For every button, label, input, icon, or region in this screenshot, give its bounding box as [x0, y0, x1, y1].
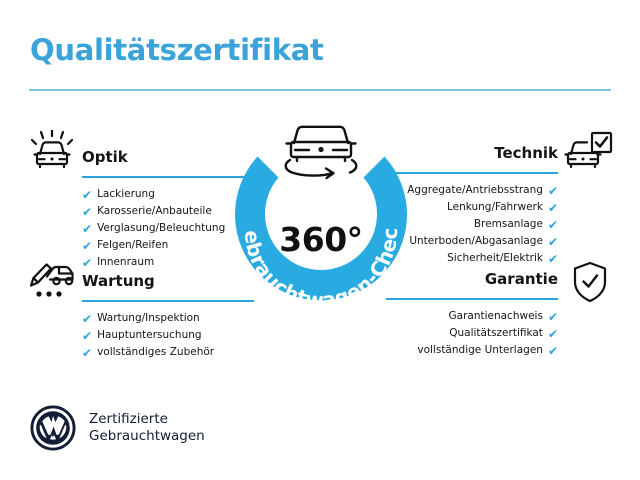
list-item: ✔vollständiges Zubehör — [82, 344, 254, 361]
check-icon: ✔ — [548, 236, 558, 248]
pen-car-service-icon — [26, 258, 78, 302]
list-item-label: vollständige Unterlagen — [417, 342, 543, 359]
list-item-label: Garantienachweis — [449, 308, 543, 325]
list-item-label: Lenkung/Fahrwerk — [447, 199, 543, 216]
car-checkbox-icon — [562, 130, 614, 174]
check-icon: ✔ — [548, 311, 558, 323]
check-icon: ✔ — [548, 219, 558, 231]
list-item-label: Aggregate/Antriebsstrang — [407, 182, 543, 199]
check-icon: ✔ — [82, 313, 92, 325]
list-item-label: Innenraum — [97, 254, 154, 271]
check-icon: ✔ — [82, 240, 92, 252]
list-item-label: Hauptuntersuchung — [97, 327, 202, 344]
check-icon: ✔ — [82, 189, 92, 201]
badge-degrees-label: 360° — [226, 220, 416, 259]
check-icon: ✔ — [82, 257, 92, 269]
page-title: Qualitätszertifikat — [30, 33, 324, 67]
shield-check-icon — [570, 260, 610, 304]
list-item: vollständige Unterlagen✔ — [386, 342, 558, 359]
check-icon: ✔ — [548, 253, 558, 265]
list-item-label: Karosserie/Anbauteile — [97, 203, 212, 220]
vw-logo-icon — [30, 405, 76, 451]
footer-brand: Zertifizierte Gebrauchtwagen — [30, 405, 205, 451]
list-item-label: Bremsanlage — [474, 216, 543, 233]
list-item-label: Lackierung — [97, 186, 155, 203]
360-check-badge: Gebrauchtwagen-Check 360° — [226, 113, 416, 313]
check-icon: ✔ — [548, 202, 558, 214]
certificate-page: Qualitätszertifikat Optik ✔Lackierung — [0, 0, 640, 480]
check-icon: ✔ — [82, 223, 92, 235]
car-rotate-360-icon — [286, 127, 357, 178]
list-item: ✔Hauptuntersuchung — [82, 327, 254, 344]
check-icon: ✔ — [548, 185, 558, 197]
check-icon: ✔ — [82, 206, 92, 218]
section-wartung-list: ✔Wartung/Inspektion ✔Hauptuntersuchung ✔… — [82, 310, 254, 361]
section-garantie-list: Garantienachweis✔ Qualitätszertifikat✔ v… — [386, 308, 558, 359]
list-item-label: vollständiges Zubehör — [97, 344, 214, 361]
list-item-label: Felgen/Reifen — [97, 237, 168, 254]
list-item-label: Verglasung/Beleuchtung — [97, 220, 225, 237]
list-item-label: Unterboden/Abgasanlage — [409, 233, 543, 250]
list-item-label: Qualitätszertifikat — [449, 325, 543, 342]
footer-text: Zertifizierte Gebrauchtwagen — [89, 411, 205, 445]
check-icon: ✔ — [548, 328, 558, 340]
list-item: Qualitätszertifikat✔ — [386, 325, 558, 342]
check-icon: ✔ — [82, 330, 92, 342]
header-divider — [29, 89, 611, 91]
car-shine-icon — [26, 130, 78, 174]
check-icon: ✔ — [82, 347, 92, 359]
list-item-label: Wartung/Inspektion — [97, 310, 200, 327]
list-item-label: Sicherheit/Elektrik — [447, 250, 543, 267]
check-icon: ✔ — [548, 345, 558, 357]
